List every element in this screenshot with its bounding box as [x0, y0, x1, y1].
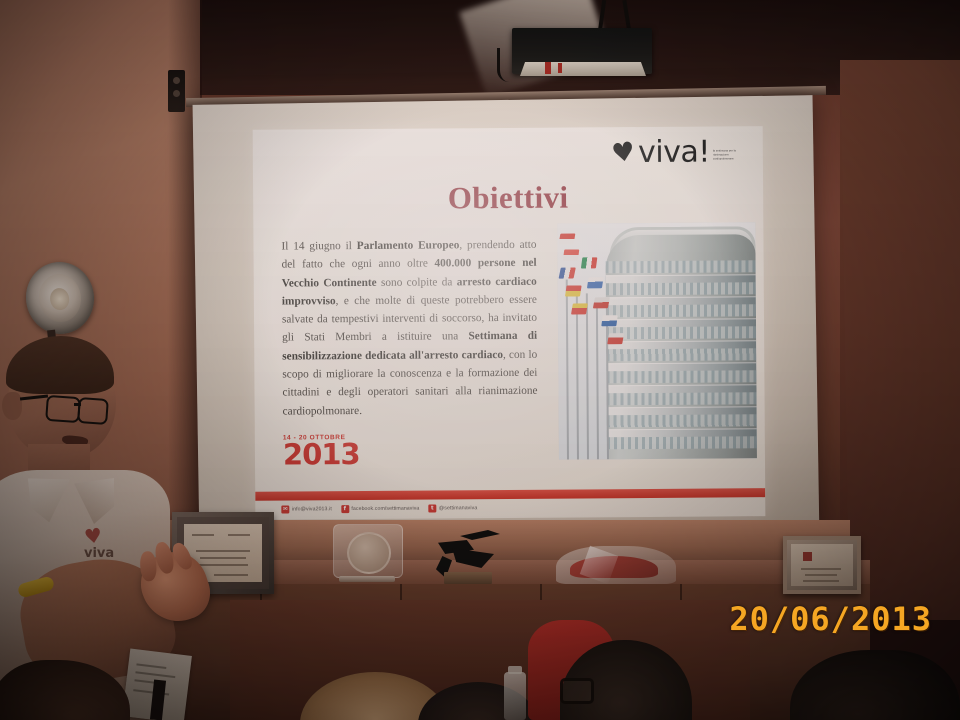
bottle-cap	[508, 666, 522, 674]
slide-footer: ✉ info@viva2013.it f facebook.com/settim…	[281, 499, 755, 516]
footer-email-label: info@viva2013.it	[292, 506, 332, 512]
viva-logo: ♥ viva! la settimana per la rianimazione…	[612, 138, 747, 166]
presentation-slide: ♥ viva! la settimana per la rianimazione…	[253, 126, 766, 520]
slide-body-text: Il 14 giugno il Parlamento Europeo, pren…	[281, 236, 537, 421]
audience-glasses	[560, 678, 594, 704]
bird-sculpture-trophy	[430, 526, 502, 584]
projection-screen: ♥ viva! la settimana per la rianimazione…	[193, 95, 820, 547]
member-flag	[563, 249, 579, 260]
shirt-heart-icon: ♥	[83, 521, 131, 547]
water-bottle	[504, 672, 526, 720]
plastic-wrapped-package	[556, 546, 676, 584]
shirt-viva-logo: ♥ viva	[84, 524, 130, 562]
member-flag	[607, 333, 624, 344]
plaque-emblem	[803, 552, 812, 561]
footer-twitter: t @settimanaviva	[428, 504, 477, 512]
conference-photo: ♥ viva! la settimana per la rianimazione…	[0, 0, 960, 720]
campaign-date: 14 - 20 OTTOBRE 2013	[283, 434, 360, 468]
projector-label-mark	[558, 63, 562, 73]
footer-email: ✉ info@viva2013.it	[281, 505, 332, 513]
glasses-lens-left	[45, 395, 81, 423]
camera-datestamp: 20/06/2013	[729, 600, 932, 638]
viva-wordmark: viva!	[638, 139, 710, 167]
footer-facebook-label: facebook.com/settimanaviva	[351, 506, 419, 512]
projector-lens-plate	[520, 62, 646, 76]
parliament-tower	[605, 234, 757, 459]
glass-disc-trophy	[333, 524, 401, 584]
framed-plaque	[783, 536, 861, 594]
plaque-face	[791, 544, 853, 586]
member-flag	[601, 315, 617, 326]
member-flag	[559, 233, 576, 244]
screen-wall-bracket	[168, 70, 185, 112]
member-flag	[559, 267, 576, 278]
member-flag	[593, 297, 610, 308]
slide-title: Obiettivi	[253, 178, 763, 218]
footer-facebook: f facebook.com/settimanaviva	[341, 505, 420, 514]
glasses-lens-right	[77, 397, 109, 425]
member-flag	[571, 303, 588, 314]
facebook-icon: f	[341, 505, 349, 513]
member-flag	[587, 277, 604, 288]
footer-twitter-label: @settimanaviva	[439, 505, 477, 511]
plastic-highlight	[580, 546, 618, 584]
european-parliament-photo	[557, 222, 757, 459]
envelope-icon: ✉	[281, 505, 289, 513]
heart-icon: ♥	[610, 139, 637, 168]
campaign-year: 2013	[283, 441, 360, 468]
speaker-ear	[2, 392, 22, 420]
twitter-icon: t	[428, 504, 436, 512]
member-flag	[581, 257, 597, 268]
viva-tagline: la settimana per la rianimazione cardiop…	[713, 150, 747, 166]
projector-label-mark	[545, 62, 551, 74]
member-flag	[565, 285, 582, 296]
